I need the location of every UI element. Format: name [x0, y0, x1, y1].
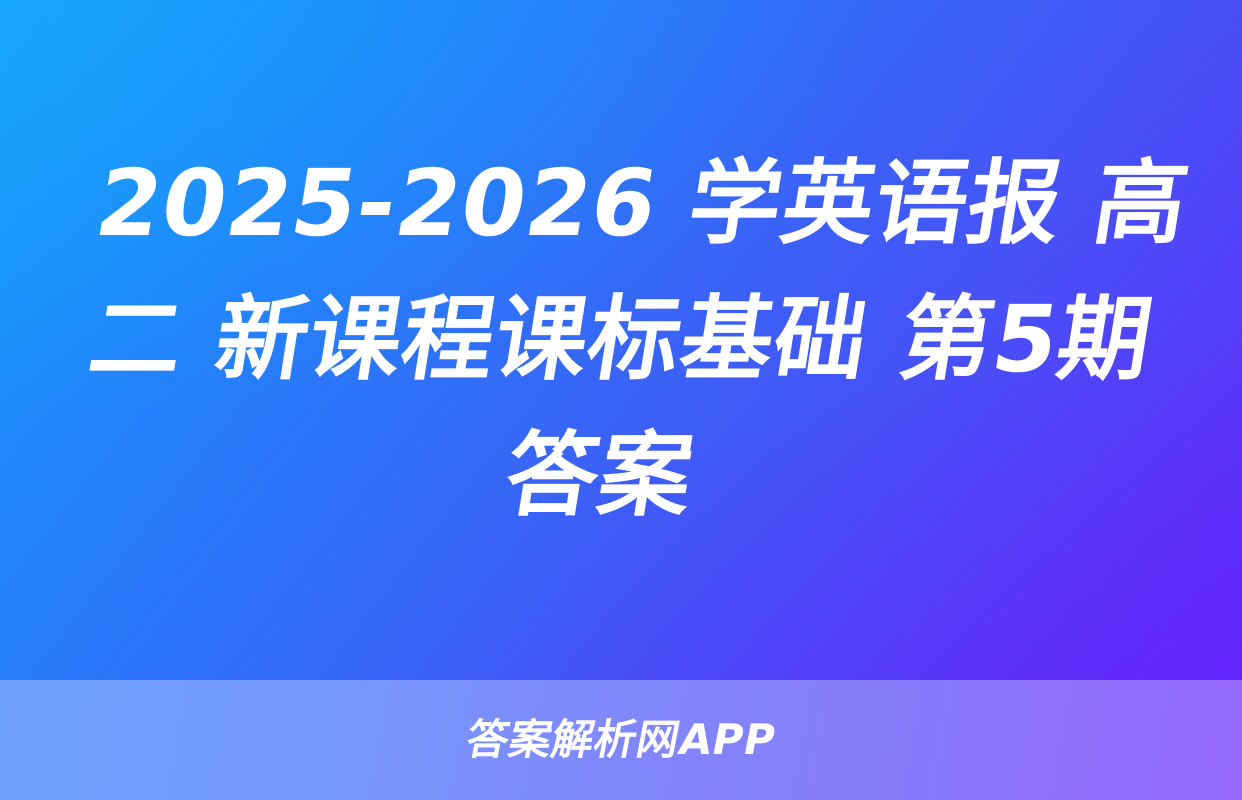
answer-cover-card: 2025-2026 学英语报 高二 新课程课标基础 第5期答案 答案解析网APP	[0, 0, 1242, 800]
footer-brand-band: 答案解析网APP	[0, 680, 1242, 800]
page-title: 2025-2026 学英语报 高二 新课程课标基础 第5期答案	[22, 136, 1221, 544]
footer-brand-label: 答案解析网APP	[463, 719, 779, 761]
cover-title-area: 2025-2026 学英语报 高二 新课程课标基础 第5期答案	[0, 0, 1242, 680]
